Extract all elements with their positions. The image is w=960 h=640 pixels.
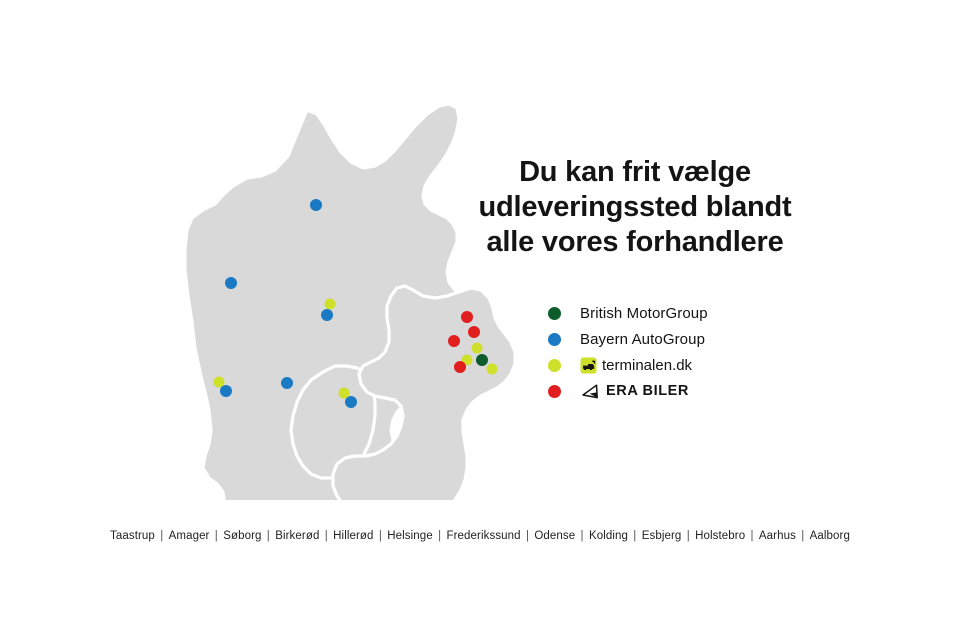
city-separator: | [796, 530, 810, 542]
era-biler-wordmark: ERA BILER [606, 384, 689, 399]
legend-item-british-motorgroup[interactable]: British MotorGroup [548, 300, 808, 326]
map-marker-holstebro-bayern[interactable] [225, 277, 237, 289]
map-marker-hillerod-era[interactable] [468, 326, 480, 338]
city-separator: | [210, 530, 224, 542]
city-separator: | [433, 530, 447, 542]
city-taastrup: Taastrup [110, 530, 155, 542]
map-marker-kolding-bayern[interactable] [281, 377, 293, 389]
city-esbjerg: Esbjerg [642, 530, 682, 542]
city-søborg: Søborg [223, 530, 261, 542]
headline-line-1: Du kan frit vælge [430, 155, 840, 190]
city-separator: | [374, 530, 388, 542]
city-hillerød: Hillerød [333, 530, 373, 542]
city-frederikssund: Frederikssund [447, 530, 521, 542]
city-separator: | [155, 530, 169, 542]
city-aarhus: Aarhus [759, 530, 796, 542]
map-marker-helsinge-era[interactable] [461, 311, 473, 323]
city-separator: | [745, 530, 759, 542]
map-marker-birkerod-terminalen[interactable] [472, 343, 483, 354]
city-odense: Odense [534, 530, 575, 542]
brand-legend: British MotorGroup Bayern AutoGroup te [548, 300, 808, 404]
legend-item-terminalen[interactable]: terminalen.dk [548, 352, 808, 378]
map-marker-esbjerg-terminalen[interactable] [214, 377, 225, 388]
map-marker-odense-terminalen[interactable] [339, 388, 350, 399]
legend-item-era-biler[interactable]: ERA BILER [548, 378, 808, 404]
city-holstebro: Holstebro [695, 530, 745, 542]
city-aalborg: Aalborg [810, 530, 850, 542]
map-marker-amager-terminalen[interactable] [487, 364, 498, 375]
legend-swatch-era-biler [548, 385, 561, 398]
legend-swatch-bayern-autogroup [548, 333, 561, 346]
legend-label-british-motorgroup: British MotorGroup [580, 306, 708, 321]
map-marker-taastrup-era[interactable] [454, 361, 466, 373]
legend-swatch-terminalen [548, 359, 561, 372]
city-kolding: Kolding [589, 530, 628, 542]
city-separator: | [262, 530, 276, 542]
map-marker-aarhus-bayern[interactable] [321, 309, 333, 321]
map-marker-amager-british[interactable] [476, 354, 488, 366]
terminalen-lockup: terminalen.dk [580, 357, 692, 374]
headline-line-2: udleveringssted blandt [430, 190, 840, 225]
city-separator: | [628, 530, 642, 542]
city-separator: | [681, 530, 695, 542]
map-marker-odense-bayern[interactable] [345, 396, 357, 408]
poster-canvas: Du kan frit vælge udleveringssted blandt… [0, 0, 960, 640]
era-biler-lockup: ERA BILER [580, 383, 689, 400]
terminalen-wordmark: terminalen.dk [602, 358, 692, 373]
headline-line-3: alle vores forhandlere [430, 225, 840, 260]
map-marker-aalborg-bayern[interactable] [310, 199, 322, 211]
map-marker-esbjerg-bayern[interactable] [220, 385, 232, 397]
city-amager: Amager [169, 530, 210, 542]
city-separator: | [575, 530, 589, 542]
map-marker-aarhus-terminalen[interactable] [325, 299, 336, 310]
terminalen-logo-icon [580, 357, 597, 374]
city-separator: | [319, 530, 333, 542]
page-title: Du kan frit vælge udleveringssted blandt… [430, 155, 840, 260]
legend-item-bayern-autogroup[interactable]: Bayern AutoGroup [548, 326, 808, 352]
city-list: Taastrup | Amager | Søborg | Birkerød | … [0, 529, 960, 544]
legend-label-bayern-autogroup: Bayern AutoGroup [580, 332, 705, 347]
city-helsinge: Helsinge [387, 530, 433, 542]
map-marker-frederikssund-era[interactable] [448, 335, 460, 347]
city-birkerød: Birkerød [275, 530, 319, 542]
city-separator: | [521, 530, 535, 542]
era-biler-logo-icon [580, 383, 601, 400]
legend-swatch-british-motorgroup [548, 307, 561, 320]
